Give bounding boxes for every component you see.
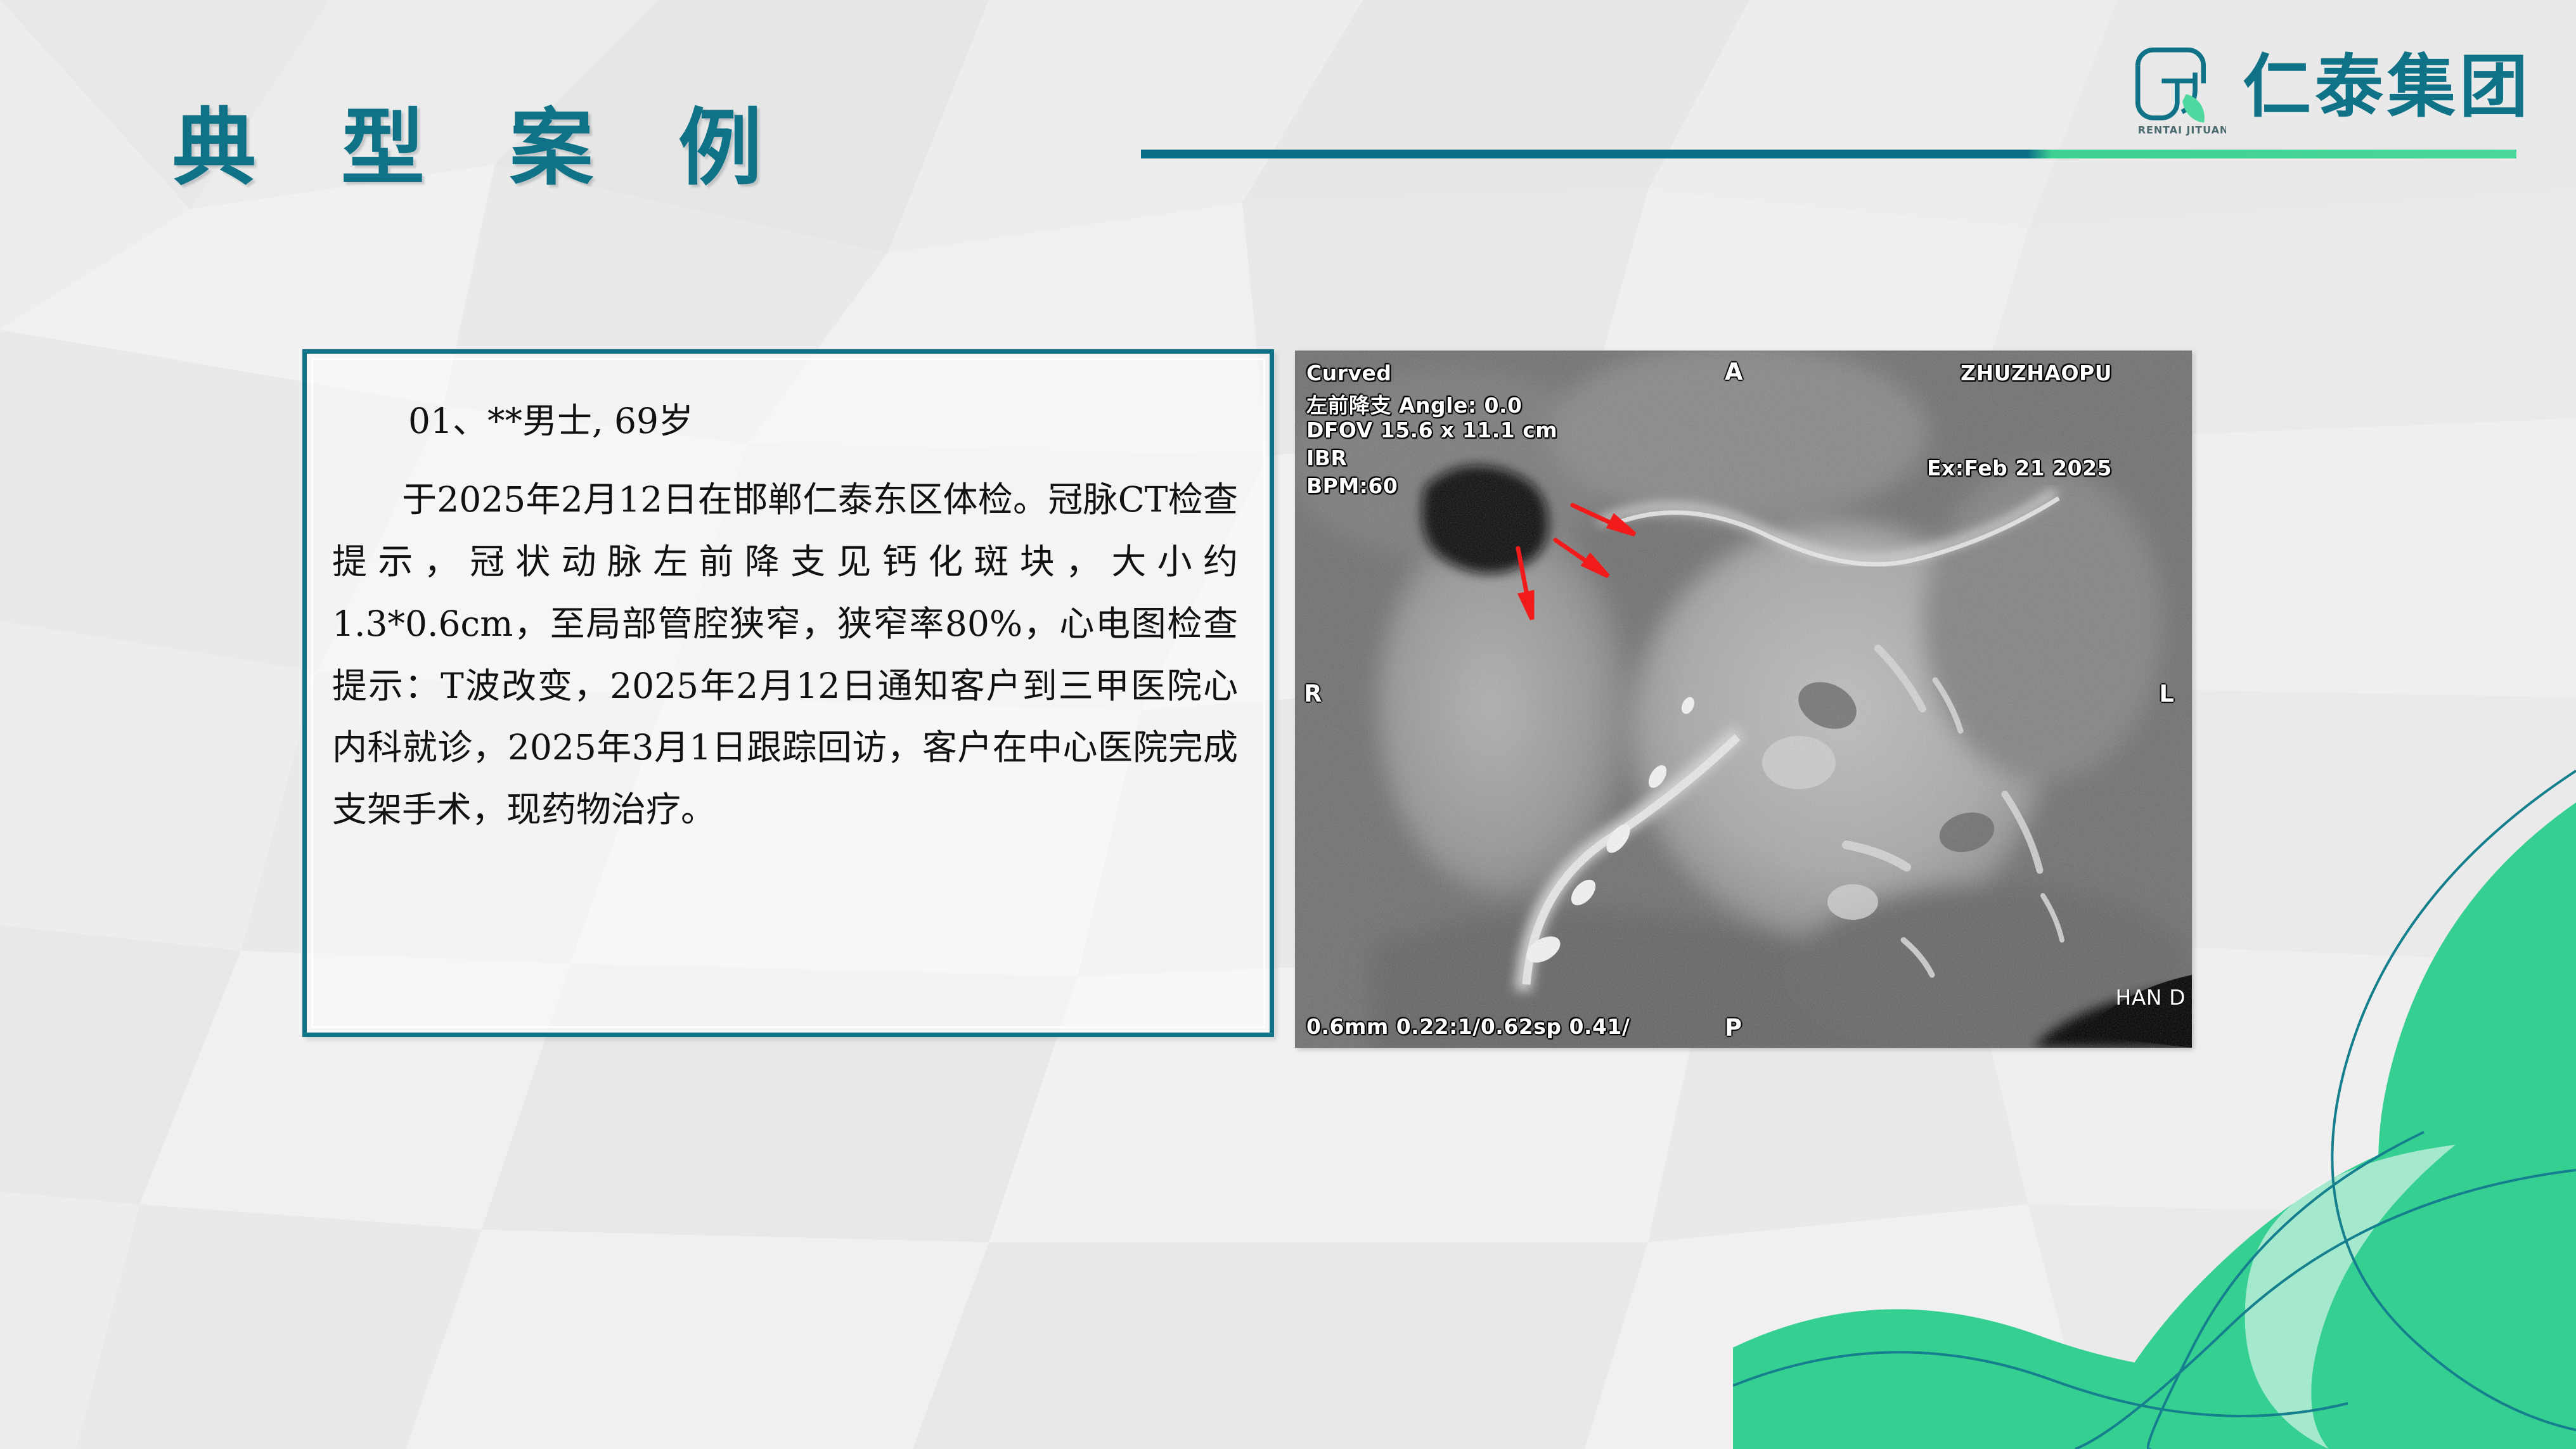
- ct-label-recon: IBR: [1306, 446, 1347, 470]
- ct-label-modality: Curved: [1306, 361, 1392, 385]
- ct-label-slice-params: 0.6mm 0.22:1/0.62sp 0.41/: [1306, 1014, 1630, 1039]
- header-divider-rule: [1141, 150, 2516, 158]
- ct-scan-render: [1295, 351, 2192, 1048]
- ct-orientation-posterior: P: [1725, 1014, 1742, 1041]
- ct-orientation-anterior: A: [1725, 358, 1743, 385]
- ct-label-exam-date: Ex:Feb 21 2025: [1927, 456, 2112, 480]
- ct-orientation-left: L: [2159, 680, 2174, 707]
- case-body-text: 于2025年2月12日在邯郸仁泰东区体检。冠脉CT检查提示，冠状动脉左前降支见钙…: [332, 469, 1238, 841]
- ct-label-vessel-angle: 左前降支 Angle: 0.0: [1306, 389, 1523, 419]
- page-title: 典 型 案 例: [172, 106, 790, 190]
- ct-label-dfov: DFOV 15.6 x 11.1 cm: [1306, 418, 1557, 442]
- case-text-panel: 01、**男士, 69岁 于2025年2月12日在邯郸仁泰东区体检。冠脉CT检查…: [302, 349, 1274, 1037]
- ct-scan-image: Curved 左前降支 Angle: 0.0 DFOV 15.6 x 11.1 …: [1295, 351, 2192, 1048]
- ct-label-bpm: BPM:60: [1306, 473, 1398, 498]
- brand-logo: RENTAI JITUAN 仁泰集团: [2125, 37, 2532, 138]
- ct-angle: Angle: 0.0: [1399, 393, 1523, 418]
- logo-wordmark: 仁泰集团: [2243, 51, 2532, 123]
- svg-text:RENTAI JITUAN: RENTAI JITUAN: [2138, 124, 2226, 136]
- case-panel-inner-border: 01、**男士, 69岁 于2025年2月12日在邯郸仁泰东区体检。冠脉CT检查…: [311, 358, 1265, 1028]
- ct-orientation-right: R: [1304, 680, 1322, 707]
- rentai-monogram-icon: RENTAI JITUAN: [2125, 37, 2226, 138]
- ct-label-patient-name: ZHUZHAOPU: [1961, 361, 2112, 385]
- ct-vessel-name: 左前降支: [1306, 393, 1391, 418]
- slide-canvas: 典 型 案 例 RENTAI JITUAN 仁泰集团 01、**男士, 69岁 …: [0, 0, 2576, 1449]
- ct-label-institution: HAN D: [2116, 985, 2186, 1010]
- case-heading: 01、**男士, 69岁: [332, 390, 1238, 453]
